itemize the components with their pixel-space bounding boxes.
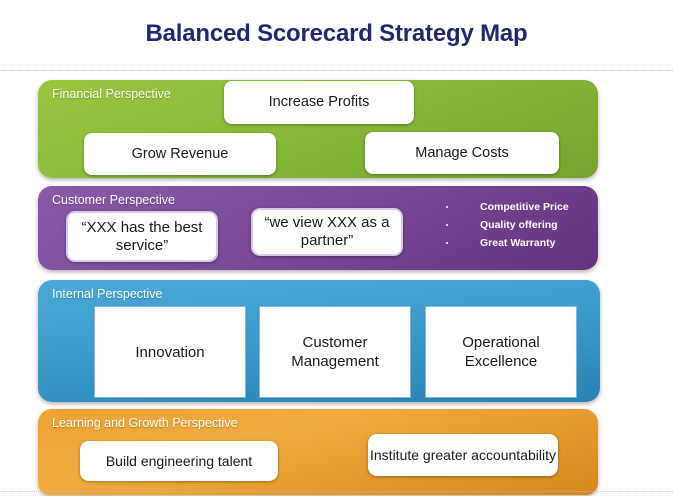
bullet-dot-icon (446, 224, 448, 226)
band-label-learning-growth: Learning and Growth Perspective (52, 416, 238, 430)
list-item: Quality offering (444, 219, 590, 232)
list-item: Great Warranty (444, 237, 590, 250)
customer-value-bullet-list: Competitive Price Quality offering Great… (444, 201, 590, 255)
divider-bottom (0, 491, 673, 493)
list-item: Competitive Price (444, 201, 590, 214)
box-operational-excellence[interactable]: Operational Excellence (426, 307, 576, 397)
band-learning-growth-perspective: Learning and Growth Perspective Build en… (38, 409, 598, 495)
band-label-financial: Financial Perspective (52, 87, 171, 101)
band-internal-perspective: Internal Perspective Innovation Customer… (38, 280, 600, 402)
list-item-label: Quality offering (480, 219, 558, 231)
card-build-engineering-talent[interactable]: Build engineering talent (80, 441, 278, 481)
band-customer-perspective: Customer Perspective “XXX has the best s… (38, 186, 598, 270)
card-institute-greater-accountability[interactable]: Institute greater accountability (368, 434, 558, 476)
band-label-internal: Internal Perspective (52, 287, 162, 301)
page-title: Balanced Scorecard Strategy Map (0, 20, 673, 48)
divider-top (0, 70, 673, 72)
card-customer-quote-service[interactable]: “XXX has the best service” (66, 211, 218, 262)
card-increase-profits[interactable]: Increase Profits (224, 81, 414, 124)
box-customer-management[interactable]: Customer Management (260, 307, 410, 397)
card-grow-revenue[interactable]: Grow Revenue (84, 133, 276, 175)
bullet-dot-icon (446, 242, 448, 244)
card-customer-quote-partner[interactable]: “we view XXX as a partner” (251, 208, 403, 256)
band-label-customer: Customer Perspective (52, 193, 175, 207)
list-item-label: Great Warranty (480, 237, 555, 249)
band-financial-perspective: Financial Perspective Increase Profits G… (38, 80, 598, 178)
list-item-label: Competitive Price (480, 201, 569, 213)
box-innovation[interactable]: Innovation (95, 307, 245, 397)
bullet-dot-icon (446, 206, 448, 208)
card-manage-costs[interactable]: Manage Costs (365, 132, 559, 174)
